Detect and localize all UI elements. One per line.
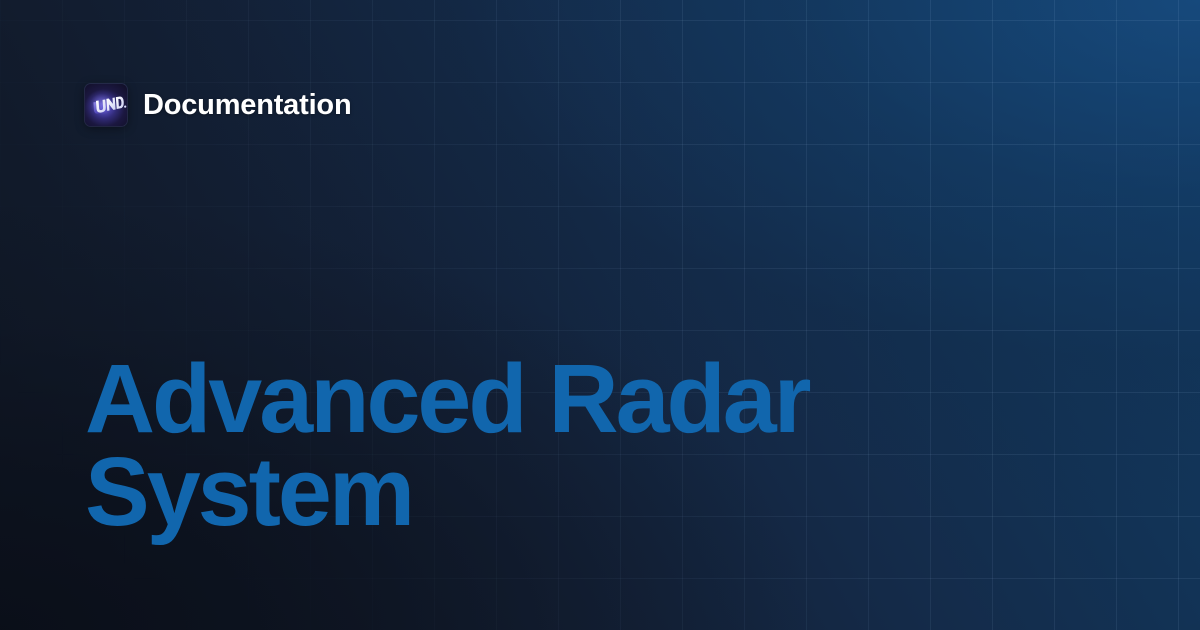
hero-section: Advanced Radar System	[85, 352, 865, 538]
og-banner-canvas: Documentation Advanced Radar System	[0, 0, 1200, 630]
brand-row: Documentation	[85, 84, 351, 126]
und-logo-icon	[85, 84, 127, 126]
logo-wordmark-mark	[85, 84, 127, 126]
brand-title: Documentation	[143, 91, 351, 120]
page-title: Advanced Radar System	[85, 352, 865, 538]
